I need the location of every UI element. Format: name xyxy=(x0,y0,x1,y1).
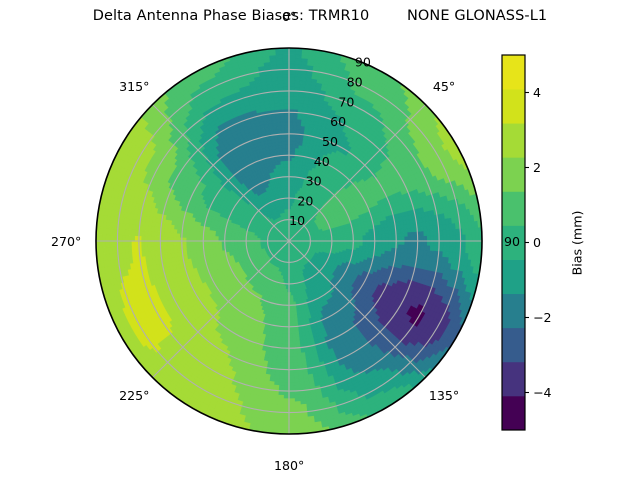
radial-tick-label: 10 xyxy=(289,213,305,228)
angular-tick-label-270: 270° xyxy=(51,234,81,249)
radial-tick-label: 80 xyxy=(347,75,363,90)
colorbar-tick-label: 0 xyxy=(533,235,541,250)
radial-tick-label: 50 xyxy=(322,134,338,149)
colorbar-band xyxy=(502,294,525,328)
colorbar-band xyxy=(502,89,525,123)
radial-tick-label: 90 xyxy=(355,55,371,70)
colorbar-band xyxy=(502,123,525,157)
colorbar-band xyxy=(502,362,525,396)
colorbar-axis-label: Bias (mm) xyxy=(570,210,585,275)
radial-tick-label: 60 xyxy=(330,114,346,129)
polar-contour-plot: 102030405060708090420−2−4 xyxy=(0,0,640,480)
angular-tick-label-90: 90 xyxy=(504,234,520,249)
colorbar-band xyxy=(502,396,525,430)
radial-tick-label: 30 xyxy=(306,174,322,189)
colorbar-tick-label: 4 xyxy=(533,85,541,100)
colorbar-tick-label: −2 xyxy=(533,310,552,325)
colorbar-tick-label: 2 xyxy=(533,160,541,175)
angular-tick-label-225: 225° xyxy=(119,388,149,403)
colorbar-tick-label: −4 xyxy=(533,385,552,400)
page-title: Delta Antenna Phase Biases: TRMR10 NONE … xyxy=(0,8,640,24)
radial-tick-label: 20 xyxy=(297,193,313,208)
angular-tick-label-135: 135° xyxy=(429,388,459,403)
colorbar-band xyxy=(502,55,525,89)
colorbar-band xyxy=(502,260,525,294)
figure-canvas: Delta Antenna Phase Biases: TRMR10 NONE … xyxy=(0,0,640,480)
colorbar-band xyxy=(502,157,525,191)
angular-tick-label-45: 45° xyxy=(433,79,455,94)
colorbar-band xyxy=(502,328,525,362)
angular-tick-label-180: 180° xyxy=(274,458,304,473)
angular-tick-label-0: 0° xyxy=(282,9,296,24)
colorbar-ticks: 420−2−4 xyxy=(525,85,552,400)
radial-tick-label: 40 xyxy=(314,154,330,169)
polar-grid xyxy=(96,48,482,434)
colorbar-band xyxy=(502,191,525,225)
angular-tick-label-315: 315° xyxy=(119,79,149,94)
radial-tick-label: 70 xyxy=(338,94,354,109)
